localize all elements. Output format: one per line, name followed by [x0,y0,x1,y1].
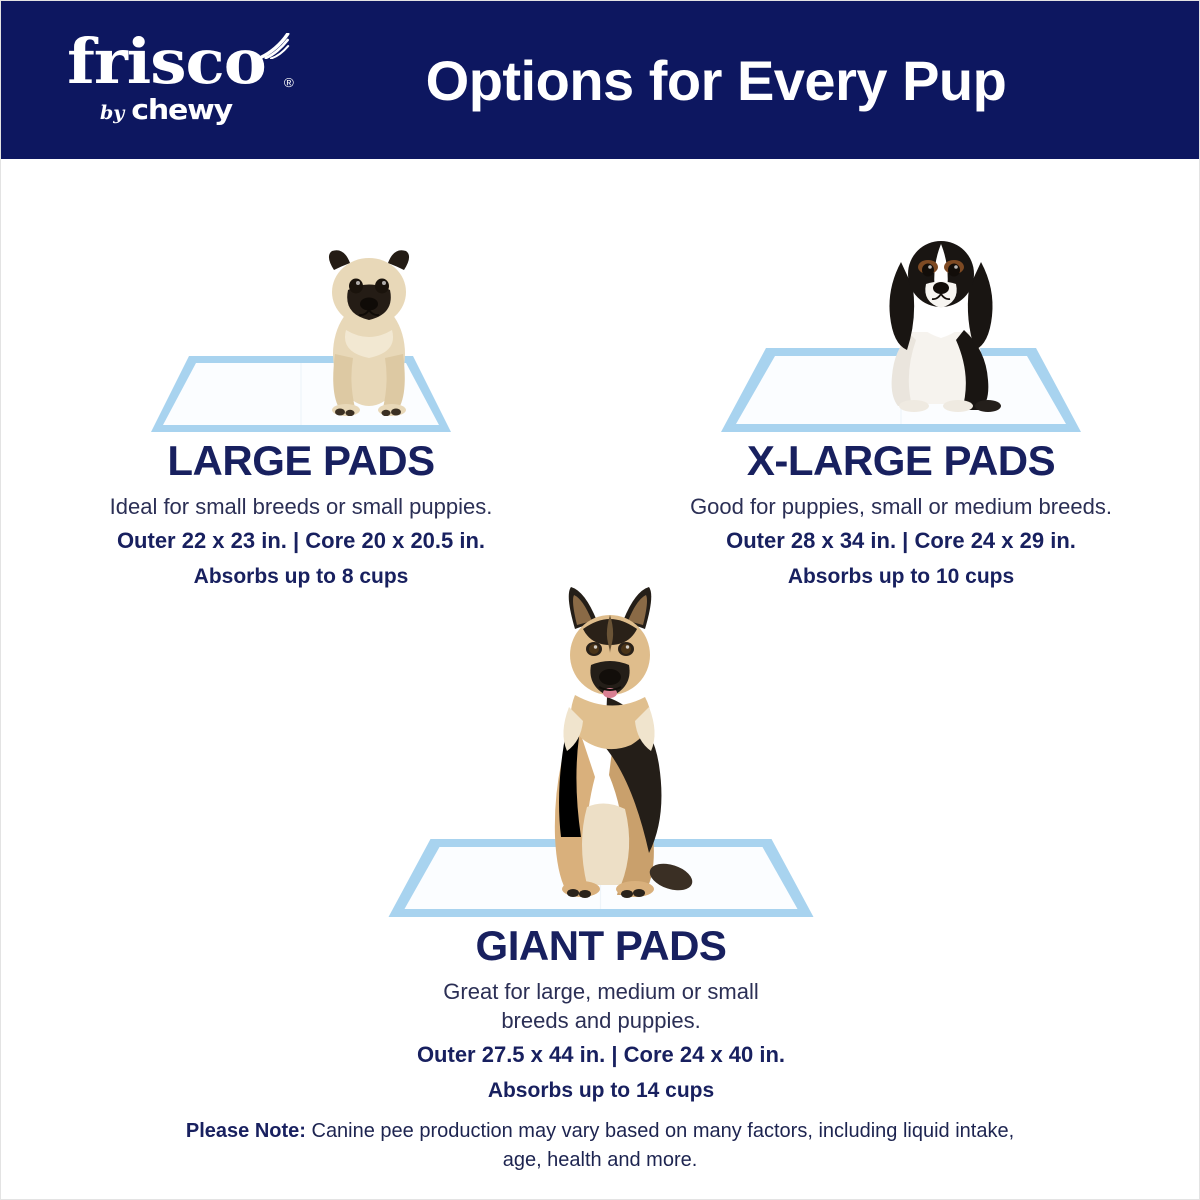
product-description: Good for puppies, small or medium breeds… [690,492,1112,521]
large-pad-illustration [1,169,601,434]
product-absorbency: Absorbs up to 14 cups [488,1079,714,1103]
product-title: X-LARGE PADS [747,438,1055,484]
footer-note-label: Please Note: [186,1120,306,1142]
product-description: Great for large, medium or small breeds … [411,977,791,1035]
infographic-page: frisco ® by chewy Options for Every Pup [0,0,1200,1200]
frisco-logo: frisco ® by chewy [1,1,331,159]
product-title: LARGE PADS [167,438,434,484]
product-grid: LARGE PADS Ideal for small breeds or sma… [1,159,1200,1199]
product-card-xlarge: X-LARGE PADS Good for puppies, small or … [601,169,1200,589]
brand-byline: by chewy [100,97,232,124]
footer-note: Please Note: Canine pee production may v… [1,1117,1199,1175]
cavalier-king-charles-spaniel-photo [866,222,1016,414]
product-title: GIANT PADS [476,923,727,969]
header-bar: frisco ® by chewy Options for Every Pup [1,1,1200,159]
footer-note-text: Canine pee production may vary based on … [306,1120,1014,1171]
brand-name: frisco [67,25,266,98]
byline-prefix: by [100,102,124,124]
product-dimensions: Outer 27.5 x 44 in. | Core 24 x 40 in. [417,1042,785,1068]
frisco-swoosh-icon [259,33,290,59]
product-card-large: LARGE PADS Ideal for small breeds or sma… [1,169,601,589]
german-shepherd-photo [503,577,723,907]
product-description: Ideal for small breeds or small puppies. [110,492,493,521]
xlarge-pad-illustration [601,169,1200,434]
registered-mark: ® [283,76,292,89]
brand-wordmark: frisco ® [67,31,266,93]
giant-pad-illustration [301,539,901,919]
page-title: Options for Every Pup [331,48,1200,113]
pug-photo [304,234,434,416]
product-card-giant: GIANT PADS Great for large, medium or sm… [301,539,901,1103]
byline-brand: chewy [131,98,232,123]
